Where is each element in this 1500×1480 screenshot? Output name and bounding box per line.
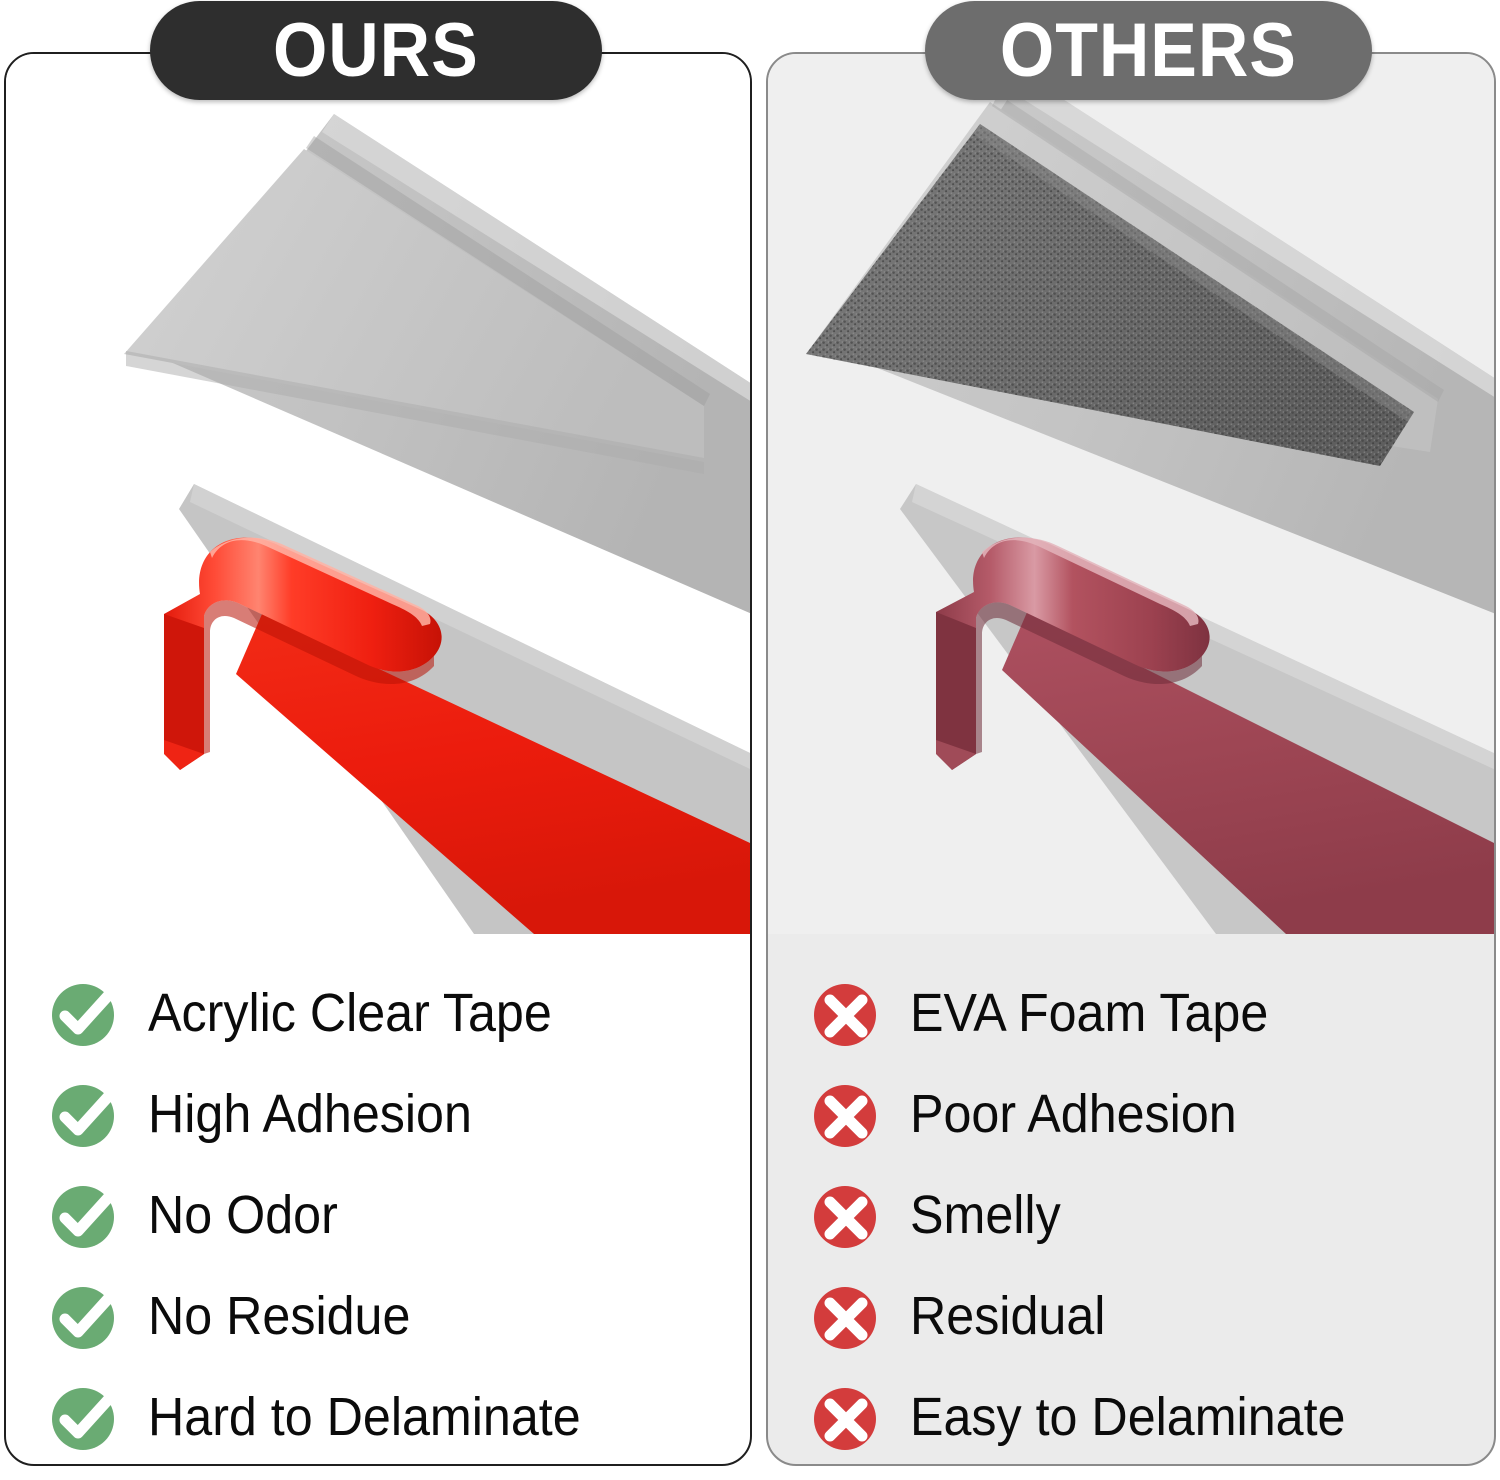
feature-label: No Residue <box>148 1289 410 1343</box>
others-badge-label: OTHERS <box>1000 13 1297 89</box>
x-circle-icon <box>810 1279 884 1353</box>
ours-feature-list: Acrylic Clear Tape High Adhesion No Odor… <box>6 934 750 1466</box>
check-circle-icon <box>48 1380 122 1454</box>
ours-badge: OURS <box>150 1 602 100</box>
check-circle-icon <box>48 1279 122 1353</box>
check-circle-icon <box>48 1178 122 1252</box>
feature-label: No Odor <box>148 1188 338 1242</box>
list-item: No Residue <box>48 1265 750 1366</box>
check-circle-icon <box>48 1077 122 1151</box>
list-item: High Adhesion <box>48 1063 750 1164</box>
x-circle-icon <box>810 1380 884 1454</box>
feature-label: Residual <box>910 1289 1105 1343</box>
ours-badge-label: OURS <box>273 13 479 89</box>
feature-label: Hard to Delaminate <box>148 1390 581 1444</box>
feature-label: Acrylic Clear Tape <box>148 986 552 1040</box>
others-product-photo <box>768 54 1494 934</box>
list-item: Hard to Delaminate <box>48 1366 750 1466</box>
x-circle-icon <box>810 1178 884 1252</box>
list-item: Easy to Delaminate <box>810 1366 1494 1466</box>
list-item: Smelly <box>810 1164 1494 1265</box>
list-item: No Odor <box>48 1164 750 1265</box>
ours-product-photo <box>6 54 750 934</box>
feature-label: EVA Foam Tape <box>910 986 1268 1040</box>
list-item: Acrylic Clear Tape <box>48 962 750 1063</box>
list-item: Poor Adhesion <box>810 1063 1494 1164</box>
comparison-infographic: Acrylic Clear Tape High Adhesion No Odor… <box>0 0 1500 1480</box>
list-item: EVA Foam Tape <box>810 962 1494 1063</box>
others-badge: OTHERS <box>925 1 1372 100</box>
check-circle-icon <box>48 976 122 1050</box>
feature-label: Poor Adhesion <box>910 1087 1237 1141</box>
x-circle-icon <box>810 1077 884 1151</box>
ours-panel: Acrylic Clear Tape High Adhesion No Odor… <box>4 52 752 1466</box>
x-circle-icon <box>810 976 884 1050</box>
others-panel: EVA Foam Tape Poor Adhesion Smelly Resid… <box>766 52 1496 1466</box>
feature-label: Easy to Delaminate <box>910 1390 1345 1444</box>
feature-label: High Adhesion <box>148 1087 472 1141</box>
list-item: Residual <box>810 1265 1494 1366</box>
others-feature-list: EVA Foam Tape Poor Adhesion Smelly Resid… <box>768 934 1494 1466</box>
feature-label: Smelly <box>910 1188 1061 1242</box>
